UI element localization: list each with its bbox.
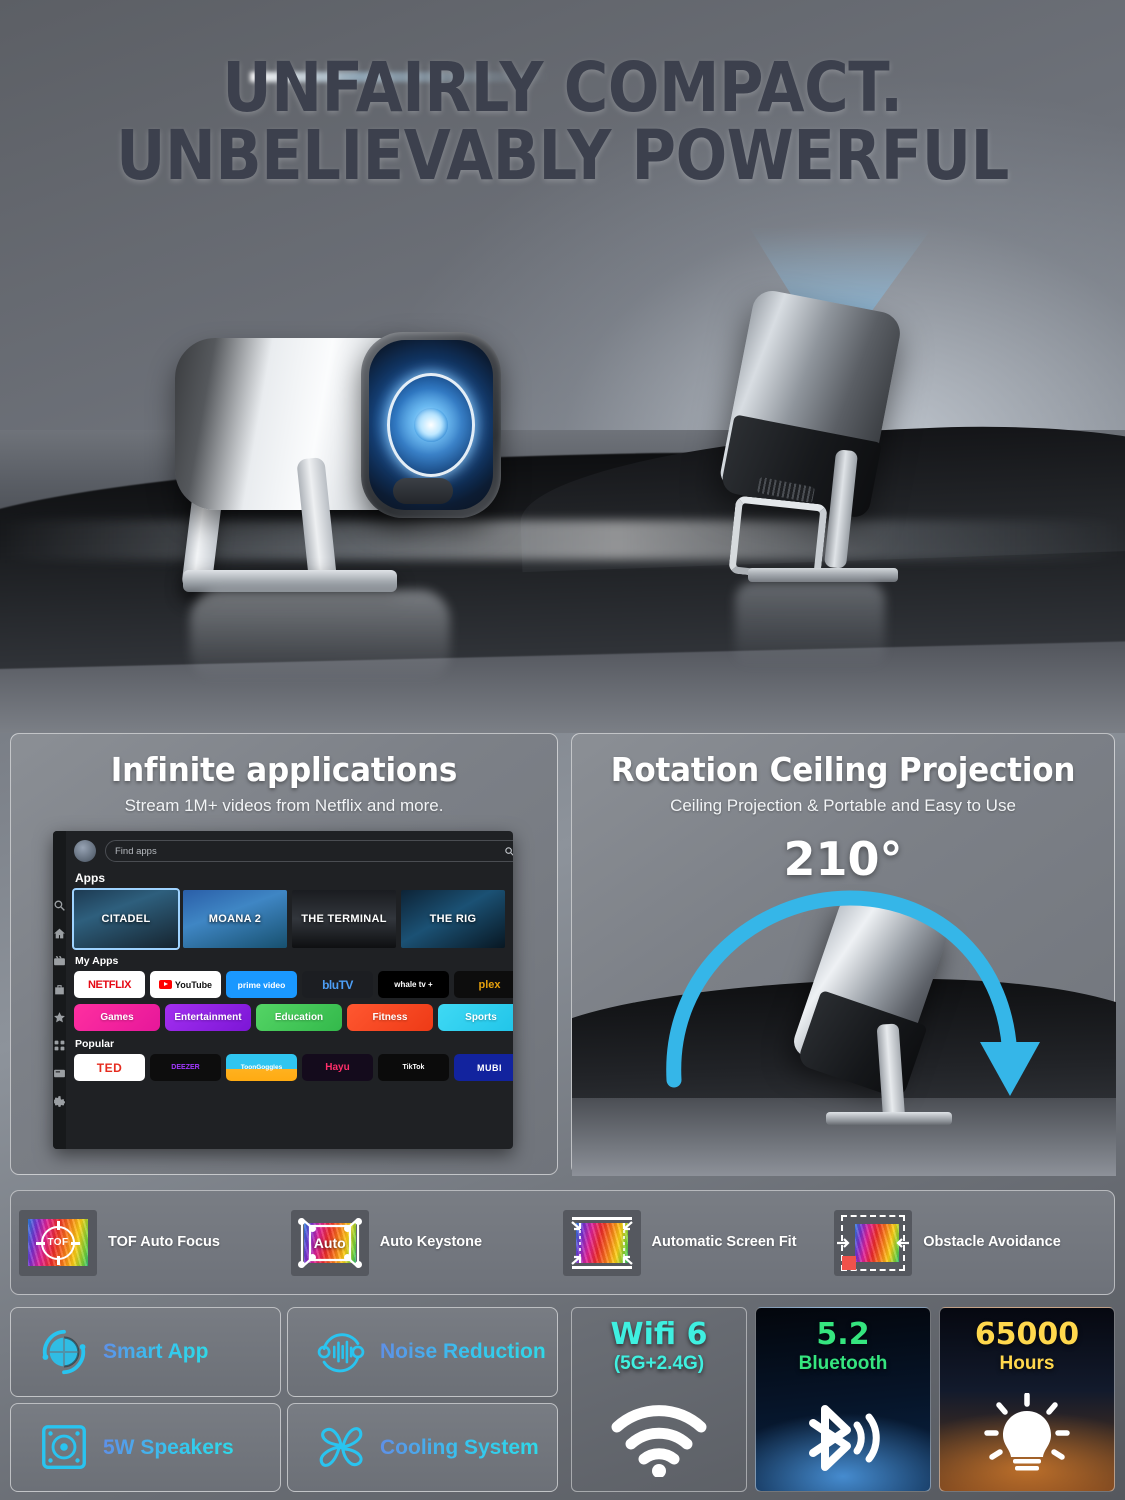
app-tile-youtube[interactable]: YouTube: [150, 971, 221, 998]
feature-label: Smart App: [103, 1340, 208, 1363]
speaker-icon: [37, 1420, 91, 1474]
settings-gear-icon[interactable]: [53, 1095, 66, 1108]
search-icon[interactable]: [53, 899, 66, 912]
strip-item-tof-auto-focus: TOF TOF Auto Focus: [19, 1210, 291, 1276]
projector-tilted-view: [718, 300, 948, 590]
search-placeholder: Find apps: [115, 846, 504, 857]
tv-top-bar: Find apps: [74, 840, 513, 862]
tof-target-icon: TOF: [19, 1210, 97, 1276]
avatar[interactable]: [74, 840, 96, 862]
rotation-panel-title: Rotation Ceiling Projection: [588, 750, 1097, 789]
feature-card-grid: Smart App Noise Reduction: [10, 1307, 558, 1492]
rotation-arc-arrow-icon: [650, 884, 1042, 1134]
tof-badge: TOF: [41, 1226, 75, 1260]
category-tile-entertainment[interactable]: Entertainment: [165, 1004, 251, 1031]
keystone-frame-icon: Auto: [291, 1210, 369, 1276]
projector-sensor-strip: [393, 478, 453, 504]
feature-card-noise-reduction: Noise Reduction: [287, 1307, 558, 1397]
strip-label: Automatic Screen Fit: [652, 1234, 797, 1251]
projector-front-view: [175, 338, 505, 593]
strip-label: TOF Auto Focus: [108, 1234, 220, 1251]
app-tile-tiktok[interactable]: TikTok: [378, 1054, 449, 1081]
spec-text-block: 5.2 Bluetooth: [756, 1320, 930, 1375]
category-tile-fitness[interactable]: Fitness: [347, 1004, 433, 1031]
strip-item-obstacle-avoidance: Obstacle Avoidance: [834, 1210, 1106, 1276]
tv-home-screen: Find apps Apps CITADEL MOANA 2 THE TERMI…: [53, 831, 513, 1149]
tv-sidebar[interactable]: [53, 831, 66, 1149]
poster-item[interactable]: MOANA 2: [183, 890, 287, 948]
poster-item[interactable]: THE RIG: [401, 890, 505, 948]
rotation-panel-subtitle: Ceiling Projection & Portable and Easy t…: [572, 796, 1114, 816]
spec-caption: (5G+2.4G): [572, 1353, 746, 1375]
panel-rotation-ceiling-projection: Rotation Ceiling Projection Ceiling Proj…: [571, 733, 1115, 1175]
poster-title: MOANA 2: [209, 914, 261, 925]
bag-icon[interactable]: [53, 983, 66, 996]
tv-content-area: Find apps Apps CITADEL MOANA 2 THE TERMI…: [66, 831, 513, 1149]
panel-infinite-applications: Infinite applications Stream 1M+ videos …: [10, 733, 558, 1175]
video-store-icon[interactable]: [53, 955, 66, 968]
strip-item-automatic-screen-fit: Automatic Screen Fit: [563, 1210, 835, 1276]
app-tile-hayu[interactable]: Hayu: [302, 1054, 373, 1081]
spec-text-block: 65000 Hours: [940, 1320, 1114, 1375]
app-tile-plex[interactable]: plex: [454, 971, 513, 998]
category-tile-games[interactable]: Games: [74, 1004, 160, 1031]
auto-badge: Auto: [314, 1235, 346, 1251]
library-icon[interactable]: [53, 1067, 66, 1080]
feature-label: Noise Reduction: [380, 1340, 546, 1363]
poster-item[interactable]: THE TERMINAL: [292, 890, 396, 948]
spec-value: 65000: [940, 1320, 1114, 1350]
app-tile-ted[interactable]: TED: [74, 1054, 145, 1081]
spec-value: 5.2: [756, 1320, 930, 1350]
feature-label: 5W Speakers: [103, 1436, 234, 1459]
app-tile-toon-goggles[interactable]: ToonGoggles: [226, 1054, 297, 1081]
projector-base-tilted: [748, 568, 898, 582]
app-tile-label: YouTube: [175, 980, 212, 990]
lightbulb-icon: [979, 1393, 1075, 1477]
search-icon[interactable]: [504, 846, 513, 857]
category-tile-education[interactable]: Education: [256, 1004, 342, 1031]
noise-reduction-waveform-icon: [314, 1325, 368, 1379]
app-tile-mubi[interactable]: MUBI: [454, 1054, 513, 1081]
app-tile-blutv[interactable]: bluTV: [302, 971, 373, 998]
poster-carousel[interactable]: CITADEL MOANA 2 THE TERMINAL THE RIG: [74, 890, 513, 948]
obstacle-avoidance-icon: [834, 1210, 912, 1276]
app-tile-prime-video[interactable]: prime video: [226, 971, 297, 998]
strip-label: Obstacle Avoidance: [923, 1234, 1061, 1251]
spec-caption: Bluetooth: [756, 1353, 930, 1375]
spec-tile-wifi: Wifi 6 (5G+2.4G): [571, 1307, 747, 1492]
apps-panel-subtitle: Stream 1M+ videos from Netflix and more.: [11, 796, 557, 816]
strip-item-auto-keystone: Auto Auto Keystone: [291, 1210, 563, 1276]
category-row[interactable]: Games Entertainment Education Fitness Sp…: [74, 1004, 513, 1031]
section-heading-apps: Apps: [75, 871, 513, 885]
poster-title: THE TERMINAL: [301, 914, 386, 925]
spec-tile-lamp-life: 65000 Hours: [939, 1307, 1115, 1492]
app-tile-netflix[interactable]: NETFLIX: [74, 971, 145, 998]
popular-row[interactable]: TED DEEZER ToonGoggles Hayu TikTok MUBI: [74, 1054, 513, 1081]
reflection-right: [735, 582, 885, 668]
app-tile-deezer[interactable]: DEEZER: [150, 1054, 221, 1081]
hero-section: UNFAIRLY COMPACT. UNBELIEVABLY POWERFUL: [0, 0, 1125, 733]
apps-panel-title: Infinite applications: [27, 750, 540, 789]
home-icon[interactable]: [53, 927, 66, 940]
search-input[interactable]: Find apps: [105, 840, 513, 862]
hero-wave-sheen: [0, 520, 1125, 560]
feature-card-cooling-system: Cooling System: [287, 1403, 558, 1493]
headline-line-2: UNBELIEVABLY POWERFUL: [68, 123, 1058, 191]
screen-fit-arrows-icon: [563, 1210, 641, 1276]
cooling-fan-icon: [314, 1420, 368, 1474]
app-tile-whale-tv[interactable]: whale tv +: [378, 971, 449, 998]
star-icon[interactable]: [53, 1011, 66, 1024]
wifi-icon: [609, 1403, 709, 1477]
spec-text-block: Wifi 6 (5G+2.4G): [572, 1320, 746, 1375]
spec-value: Wifi 6: [572, 1320, 746, 1350]
poster-title: THE RIG: [430, 914, 477, 925]
section-heading-popular: Popular: [75, 1038, 513, 1050]
reflection-left: [190, 590, 450, 682]
spec-caption: Hours: [940, 1353, 1114, 1375]
projector-base-plate: [183, 570, 397, 592]
category-tile-sports[interactable]: Sports: [438, 1004, 513, 1031]
strip-label: Auto Keystone: [380, 1234, 482, 1251]
product-infographic: UNFAIRLY COMPACT. UNBELIEVABLY POWERFUL …: [0, 0, 1125, 1500]
rotation-illustration: [572, 884, 1116, 1176]
bluetooth-icon: [795, 1399, 891, 1477]
my-apps-row[interactable]: NETFLIX YouTube prime video bluTV whale …: [74, 971, 513, 998]
smart-network-globe-icon: [37, 1325, 91, 1379]
apps-grid-icon[interactable]: [53, 1039, 66, 1052]
spec-tile-bluetooth: 5.2 Bluetooth: [755, 1307, 931, 1492]
poster-item[interactable]: CITADEL: [74, 890, 178, 948]
rotation-degrees-label: 210°: [572, 832, 1114, 886]
feature-card-smart-app: Smart App: [10, 1307, 281, 1397]
feature-card-speakers: 5W Speakers: [10, 1403, 281, 1493]
poster-title: CITADEL: [102, 914, 151, 925]
spec-tile-row: Wifi 6 (5G+2.4G) 5.2 Bluetooth: [571, 1307, 1115, 1492]
screen-technology-strip: TOF TOF Auto Focus: [10, 1190, 1115, 1295]
feature-label: Cooling System: [380, 1436, 539, 1459]
fit-arrows: [563, 1210, 641, 1276]
shrink-arrows: [834, 1210, 912, 1276]
section-heading-my-apps: My Apps: [75, 955, 513, 967]
page-title: UNFAIRLY COMPACT. UNBELIEVABLY POWERFUL: [68, 55, 1058, 190]
youtube-play-icon: [159, 980, 172, 989]
projector-lens-glow: [414, 408, 448, 442]
